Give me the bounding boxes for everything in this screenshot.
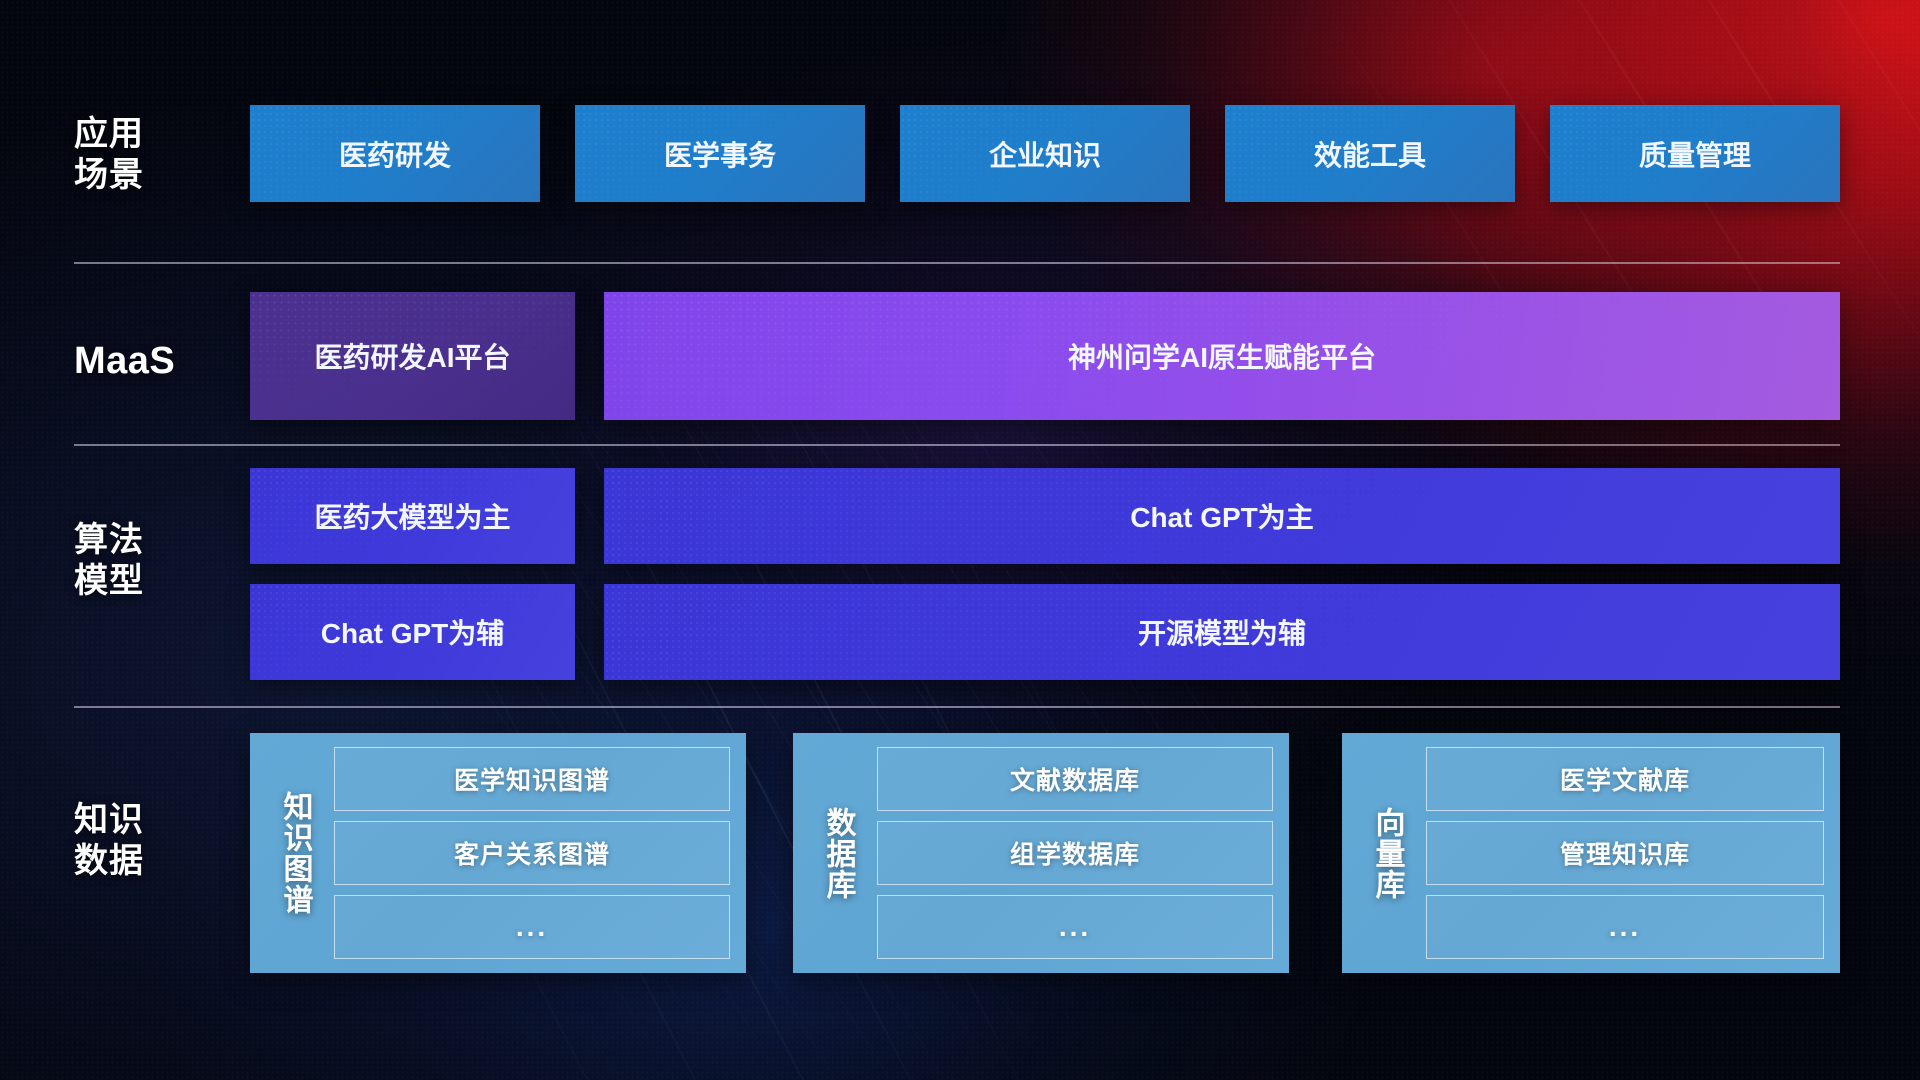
knowledge-item-vector-2[interactable]: 管理知识库: [1426, 821, 1824, 885]
maas-platform-box-shenzhou[interactable]: 神州问学AI原生赋能平台: [604, 292, 1840, 420]
algo-label-opensource-secondary: 开源模型为辅: [1138, 612, 1306, 652]
algo-box-opensource-secondary[interactable]: 开源模型为辅: [604, 584, 1840, 680]
divider-after-algorithm-model: [74, 706, 1840, 708]
knowledge-card-graph-items: 医学知识图谱 客户关系图谱 ...: [334, 747, 730, 959]
knowledge-card-database-side-label: 数据库: [807, 747, 869, 959]
app-scenario-box-3[interactable]: 企业知识: [900, 105, 1190, 202]
app-scenario-label-4: 效能工具: [1314, 134, 1426, 174]
app-scenario-label-1: 医药研发: [339, 134, 451, 174]
knowledge-item-graph-2[interactable]: 客户关系图谱: [334, 821, 730, 885]
row-label-application-scenarios: 应用 场景: [74, 114, 234, 197]
divider-after-maas: [74, 444, 1840, 446]
knowledge-item-graph-1[interactable]: 医学知识图谱: [334, 747, 730, 811]
knowledge-item-database-more[interactable]: ...: [877, 895, 1273, 959]
knowledge-item-database-2[interactable]: 组学数据库: [877, 821, 1273, 885]
knowledge-card-vector-items: 医学文献库 管理知识库 ...: [1426, 747, 1824, 959]
knowledge-card-graph-side-label: 知识图谱: [264, 747, 326, 959]
app-scenario-label-3: 企业知识: [989, 134, 1101, 174]
algo-label-chatgpt-primary: Chat GPT为主: [1130, 496, 1314, 536]
knowledge-card-vector-side-label: 向量库: [1356, 747, 1418, 959]
row-label-maas: MaaS: [74, 338, 234, 384]
row-label-knowledge-data: 知识 数据: [74, 800, 234, 883]
maas-platform-label-pharma: 医药研发AI平台: [314, 336, 510, 376]
knowledge-item-graph-more[interactable]: ...: [334, 895, 730, 959]
app-scenario-box-1[interactable]: 医药研发: [250, 105, 540, 202]
knowledge-card-database[interactable]: 数据库 文献数据库 组学数据库 ...: [793, 733, 1289, 973]
algo-label-pharma-primary: 医药大模型为主: [314, 496, 510, 536]
algo-box-pharma-primary[interactable]: 医药大模型为主: [250, 468, 575, 564]
row-label-algorithm-model: 算法 模型: [74, 520, 234, 603]
divider-after-application-scenarios: [74, 262, 1840, 264]
knowledge-item-vector-1[interactable]: 医学文献库: [1426, 747, 1824, 811]
knowledge-card-vector[interactable]: 向量库 医学文献库 管理知识库 ...: [1342, 733, 1840, 973]
knowledge-card-graph[interactable]: 知识图谱 医学知识图谱 客户关系图谱 ...: [250, 733, 746, 973]
maas-platform-box-pharma[interactable]: 医药研发AI平台: [250, 292, 575, 420]
app-scenario-box-2[interactable]: 医学事务: [575, 105, 865, 202]
architecture-diagram: 应用 场景 医药研发 医学事务 企业知识 效能工具 质量管理 MaaS 医药研发…: [0, 0, 1920, 1080]
algo-label-chatgpt-secondary: Chat GPT为辅: [321, 612, 505, 652]
app-scenario-box-5[interactable]: 质量管理: [1550, 105, 1840, 202]
maas-platform-label-shenzhou: 神州问学AI原生赋能平台: [1068, 336, 1376, 376]
app-scenario-box-4[interactable]: 效能工具: [1225, 105, 1515, 202]
slide-canvas: 应用 场景 医药研发 医学事务 企业知识 效能工具 质量管理 MaaS 医药研发…: [0, 0, 1920, 1080]
app-scenario-label-5: 质量管理: [1639, 134, 1751, 174]
app-scenario-label-2: 医学事务: [664, 134, 776, 174]
knowledge-item-vector-more[interactable]: ...: [1426, 895, 1824, 959]
knowledge-item-database-1[interactable]: 文献数据库: [877, 747, 1273, 811]
knowledge-card-database-items: 文献数据库 组学数据库 ...: [877, 747, 1273, 959]
algo-box-chatgpt-secondary[interactable]: Chat GPT为辅: [250, 584, 575, 680]
algo-box-chatgpt-primary[interactable]: Chat GPT为主: [604, 468, 1840, 564]
